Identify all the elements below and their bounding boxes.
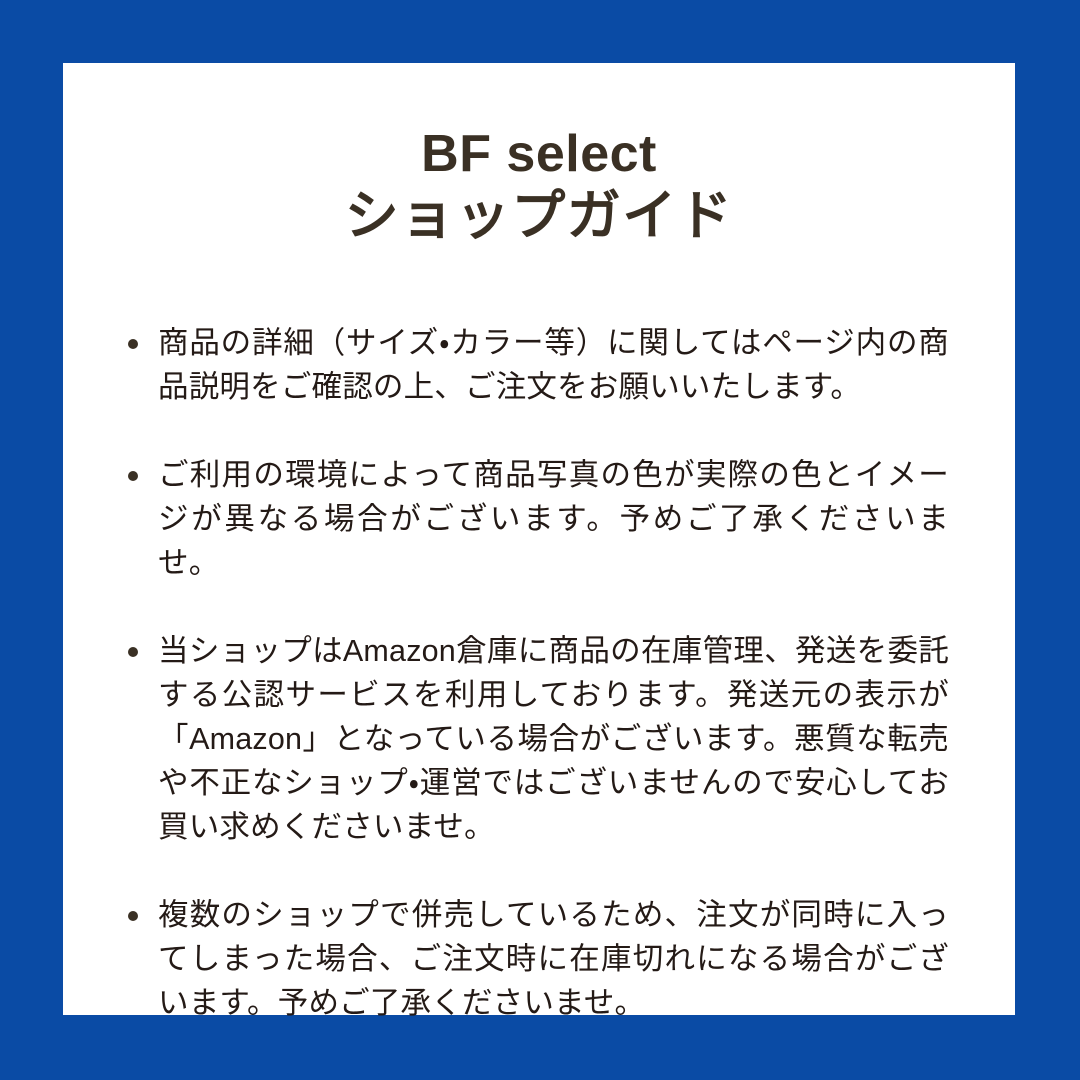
- notice-text: 当ショップはAmazon倉庫に商品の在庫管理、発送を委託する公認サービスを利用し…: [158, 629, 949, 849]
- list-item: 当ショップはAmazon倉庫に商品の在庫管理、発送を委託する公認サービスを利用し…: [128, 629, 949, 849]
- guide-panel: BF select ショップガイド 商品の詳細（サイズ・カラー等）に関してはペー…: [63, 63, 1015, 1015]
- page-title-brand: BF select: [121, 125, 957, 183]
- notice-text: 商品の詳細（サイズ・カラー等）に関してはページ内の商品説明をご確認の上、ご注文を…: [158, 321, 949, 409]
- notice-text: 複数のショップで併売しているため、注文が同時に入ってしまった場合、ご注文時に在庫…: [158, 893, 949, 1025]
- bullet-dot-icon: [128, 471, 138, 481]
- bullet-dot-icon: [128, 339, 138, 349]
- bullet-dot-icon: [128, 647, 138, 657]
- list-item: 商品の詳細（サイズ・カラー等）に関してはページ内の商品説明をご確認の上、ご注文を…: [128, 321, 949, 409]
- notice-text: ご利用の環境によって商品写真の色が実際の色とイメージが異なる場合がございます。予…: [158, 453, 949, 585]
- list-item: ご利用の環境によって商品写真の色が実際の色とイメージが異なる場合がございます。予…: [128, 453, 949, 585]
- guide-card: BF select ショップガイド 商品の詳細（サイズ・カラー等）に関してはペー…: [0, 0, 1080, 1080]
- notice-list: 商品の詳細（サイズ・カラー等）に関してはページ内の商品説明をご確認の上、ご注文を…: [121, 321, 957, 1025]
- page-title-subtitle: ショップガイド: [121, 183, 957, 251]
- page-title: BF select ショップガイド: [121, 125, 957, 251]
- bullet-dot-icon: [128, 911, 138, 921]
- list-item: 複数のショップで併売しているため、注文が同時に入ってしまった場合、ご注文時に在庫…: [128, 893, 949, 1025]
